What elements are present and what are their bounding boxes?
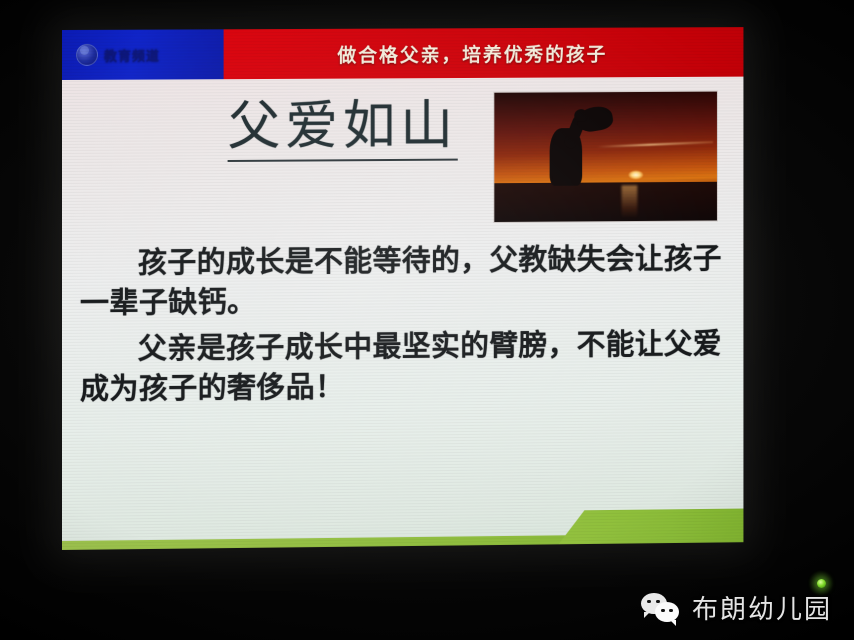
wechat-account-name: 布朗幼儿园 <box>692 589 832 626</box>
power-led-icon <box>817 579 826 588</box>
channel-logo-block: 教育频道 <box>62 29 224 80</box>
wechat-bubble-front <box>655 602 679 622</box>
logo-badge-icon <box>76 44 98 66</box>
projection-screen: 教育频道 做合格父亲，培养优秀的孩子 父爱如山 <box>62 27 743 550</box>
slide-banner: 做合格父亲，培养优秀的孩子 <box>224 27 744 79</box>
banner-text: 做合格父亲，培养优秀的孩子 <box>337 39 607 67</box>
slide-body-text: 孩子的成长是不能等待的，父教缺失会让孩子一辈子缺钙。 父亲是孩子成长中最坚实的臂… <box>80 238 722 415</box>
wechat-icon <box>641 593 681 623</box>
slide-header: 教育频道 做合格父亲，培养优秀的孩子 <box>62 27 743 80</box>
sunset-silhouette-photo <box>493 91 718 223</box>
sun-reflection <box>621 185 637 219</box>
wechat-watermark: 布朗幼儿园 <box>641 589 832 626</box>
slide-title: 父爱如山 <box>228 98 458 162</box>
paragraph-2: 父亲是孩子成长中最坚实的臂膀，不能让父爱成为孩子的奢侈品！ <box>80 323 722 408</box>
logo-text: 教育频道 <box>104 45 160 64</box>
room-photo-backdrop: 教育频道 做合格父亲，培养优秀的孩子 父爱如山 <box>0 0 854 640</box>
slide: 教育频道 做合格父亲，培养优秀的孩子 父爱如山 <box>62 27 743 550</box>
green-corner-block <box>559 509 744 545</box>
sea-area <box>494 182 717 222</box>
paragraph-1: 孩子的成长是不能等待的，父教缺失会让孩子一辈子缺钙。 <box>80 238 722 323</box>
